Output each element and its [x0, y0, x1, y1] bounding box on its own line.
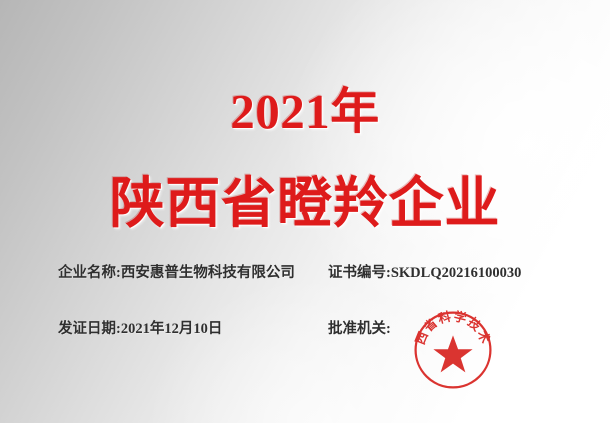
field-issue-date: 发证日期:2021年12月10日 — [58, 319, 222, 339]
seal-icon: 陕西省科学技术厅 — [410, 307, 496, 393]
field-certificate-number: 证书编号:SKDLQ20216100030 — [328, 263, 521, 283]
seal-star-icon — [433, 335, 472, 372]
detail-row: 发证日期:2021年12月10日 批准机关: 陕西省科学技术厅 — [58, 319, 558, 375]
field-approval-authority: 批准机关: — [328, 319, 391, 339]
field-value: 西安惠普生物科技有限公司 — [121, 265, 295, 281]
official-seal-stamp: 陕西省科学技术厅 — [410, 307, 496, 393]
field-label: 发证日期: — [58, 321, 121, 337]
certificate-details: 企业名称:西安惠普生物科技有限公司 证书编号:SKDLQ20216100030 … — [58, 263, 558, 375]
certificate-year-heading: 2021年 — [0, 84, 610, 140]
field-label: 企业名称: — [58, 265, 121, 281]
certificate-content: 2021年 陕西省瞪羚企业 企业名称:西安惠普生物科技有限公司 证书编号:SKD… — [0, 0, 610, 423]
field-label: 批准机关: — [328, 321, 391, 337]
certificate-title: 陕西省瞪羚企业 — [0, 172, 610, 236]
certificate-background: 2021年 陕西省瞪羚企业 企业名称:西安惠普生物科技有限公司 证书编号:SKD… — [0, 0, 610, 423]
field-label: 证书编号: — [328, 265, 391, 281]
field-value: SKDLQ20216100030 — [391, 265, 522, 281]
field-value: 2021年12月10日 — [121, 321, 223, 337]
field-company-name: 企业名称:西安惠普生物科技有限公司 — [58, 263, 295, 283]
